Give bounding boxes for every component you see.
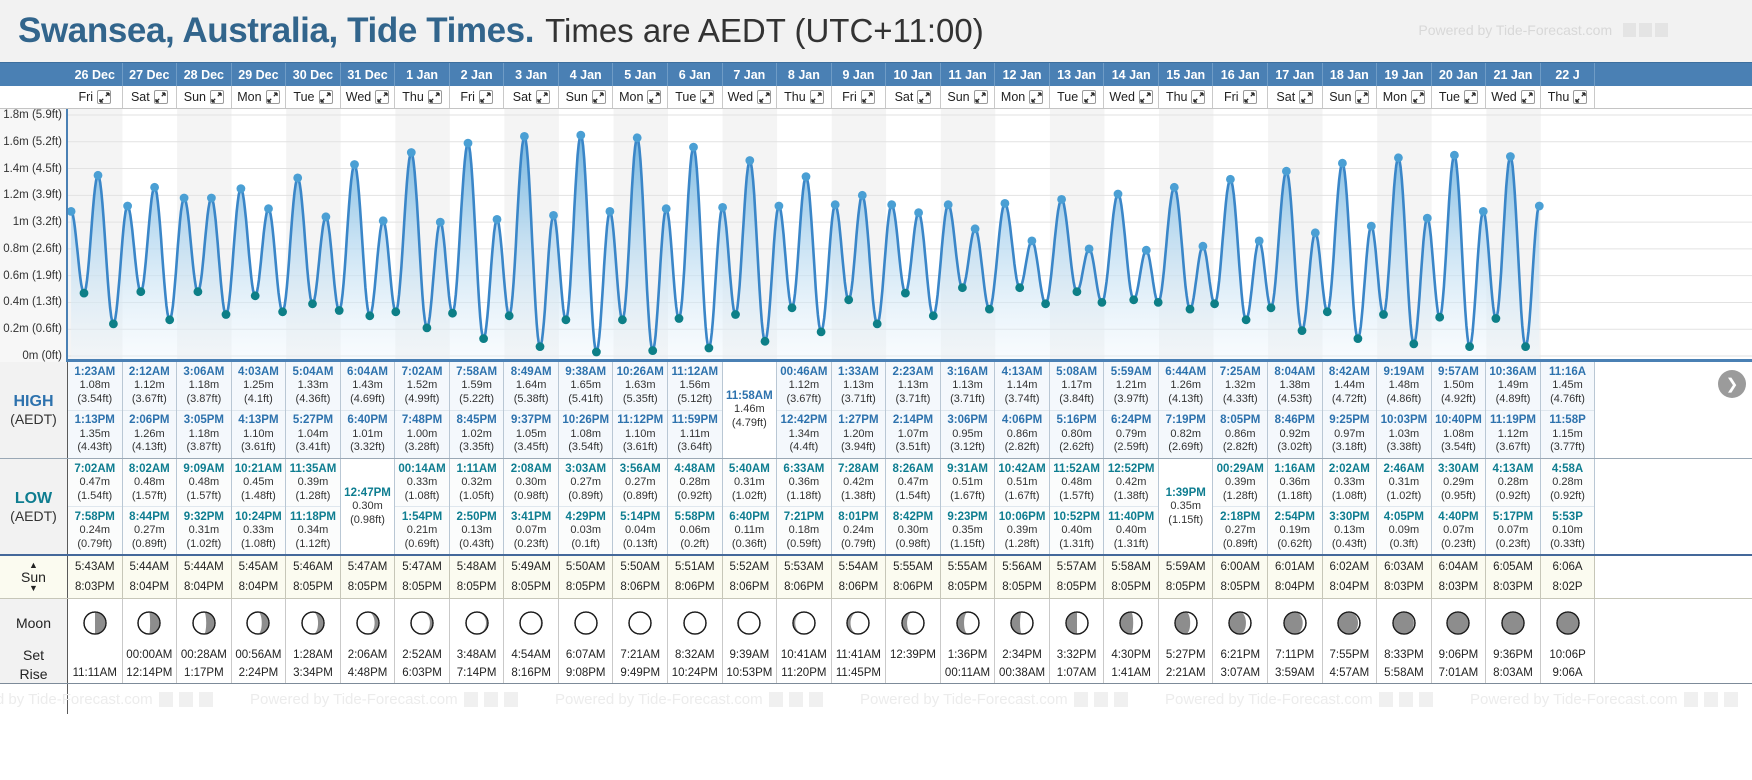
weekday-label: Mon	[1001, 90, 1025, 104]
moon-phase-cell	[1159, 599, 1214, 646]
high-tide-column: 2:12AM1.12m(3.67ft)2:06PM1.26m(4.13ft)	[123, 362, 178, 458]
tide-height-ft: (3.71ft)	[896, 393, 931, 407]
high-tide-marker	[576, 131, 585, 140]
low-tide-marker	[1186, 305, 1195, 314]
high-tide-cell: 7:25AM1.32m(4.33ft)	[1213, 362, 1267, 410]
tide-height-ft: (3.41ft)	[296, 441, 331, 455]
expand-icon[interactable]	[154, 90, 168, 104]
tide-time: 6:40PM	[729, 510, 769, 524]
tide-height-ft: (1.02ft)	[732, 490, 767, 504]
low-tide-cell: 3:30AM0.29m(0.95ft)	[1432, 459, 1486, 506]
tide-height-ft: (0.69ft)	[405, 538, 440, 552]
expand-icon[interactable]	[210, 90, 224, 104]
expand-icon[interactable]	[810, 90, 824, 104]
refresh-icon	[789, 692, 803, 707]
tide-time: 5:14PM	[620, 510, 660, 524]
moonrise-time: 7:14PM	[457, 665, 497, 682]
moon-phase-cell	[1432, 599, 1487, 646]
tide-height-ft: (1.31ft)	[1059, 538, 1094, 552]
low-tide-column: 3:30AM0.29m(0.95ft)4:40PM0.07m(0.23ft)	[1432, 459, 1487, 554]
y-axis-tick-label: 1.6m (5.2ft)	[3, 136, 62, 148]
sun-cell: 5:57AM8:05PM	[1050, 556, 1105, 598]
tide-height-ft: (1.05ft)	[459, 490, 494, 504]
high-tide-cell: 5:27PM1.04m(3.41ft)	[286, 410, 340, 459]
tide-height-m: 1.15m	[1552, 428, 1583, 442]
tide-height-ft: (0.23ft)	[1441, 538, 1476, 552]
moon-phase-cell	[1104, 599, 1159, 646]
tide-height-ft: (2.59ft)	[1114, 441, 1149, 455]
tide-height-ft: (0.36ft)	[732, 538, 767, 552]
tide-time: 4:13PM	[238, 413, 278, 427]
tide-time: 10:21AM	[235, 462, 282, 476]
tide-height-m: 0.07m	[1498, 524, 1529, 538]
wind-icon	[1379, 692, 1393, 707]
weekday-header-cell: Sun	[941, 86, 996, 108]
expand-icon[interactable]	[592, 90, 606, 104]
expand-icon[interactable]	[1191, 90, 1205, 104]
tide-time: 9:38AM	[565, 365, 606, 379]
moon-setrise-cell: 12:39PM	[886, 646, 941, 683]
tide-time: 5:04AM	[293, 365, 334, 379]
sun-row: ▲ Sun ▼ 5:43AM8:03PM5:44AM8:04PM5:44AM8:…	[0, 554, 1752, 598]
tide-time: 1:33AM	[838, 365, 879, 379]
expand-icon[interactable]	[266, 90, 280, 104]
high-tide-cell: 12:42PM1.34m(4.4ft)	[777, 410, 831, 459]
moonset-time: 8:32AM	[675, 647, 715, 664]
tide-height-ft: (0.89ft)	[1223, 538, 1258, 552]
low-tide-marker	[761, 337, 770, 346]
weekday-label: Wed	[728, 90, 753, 104]
expand-icon[interactable]	[1082, 90, 1096, 104]
low-tide-column: 6:33AM0.36m(1.18ft)7:21PM0.18m(0.59ft)	[777, 459, 832, 554]
high-tide-cell: 8:49AM1.64m(5.38ft)	[504, 362, 558, 410]
tide-height-ft: (1.54ft)	[77, 490, 112, 504]
expand-icon[interactable]	[1299, 90, 1313, 104]
sunrise-time: 6:03AM	[1384, 557, 1424, 577]
low-tide-marker	[505, 311, 514, 320]
weekday-header-cell: Tue	[286, 86, 341, 108]
expand-icon[interactable]	[428, 90, 442, 104]
sunrise-time: 5:48AM	[457, 557, 497, 577]
tide-height-ft: (5.22ft)	[459, 393, 494, 407]
expand-icon[interactable]	[917, 90, 931, 104]
weekday-header-cell: Mon	[1377, 86, 1432, 108]
low-tide-cell: 3:41PM0.07m(0.23ft)	[504, 506, 558, 554]
high-tide-column: 2:23AM1.13m(3.71ft)2:14PM1.07m(3.51ft)	[886, 362, 941, 458]
tide-height-ft: (1.02ft)	[1386, 490, 1421, 504]
tide-height-m: 0.27m	[625, 476, 656, 490]
low-tide-cell: 10:21AM0.45m(1.48ft)	[232, 459, 286, 506]
sun-cell: 6:05AM8:03PM	[1486, 556, 1541, 598]
sunset-time: 8:05PM	[457, 577, 497, 597]
tide-height-m: 0.29m	[1443, 476, 1474, 490]
high-tide-column: 8:04AM1.38m(4.53ft)8:46PM0.92m(3.02ft)	[1268, 362, 1323, 458]
moon-phase-icon	[682, 610, 708, 636]
moonset-time: 2:06AM	[348, 647, 388, 664]
moon-phase-icon	[1227, 610, 1253, 636]
sun-cell: 5:56AM8:05PM	[995, 556, 1050, 598]
moon-phase-icon	[791, 610, 817, 636]
expand-icon[interactable]	[861, 90, 875, 104]
expand-icon[interactable]	[1139, 90, 1153, 104]
sunset-time: 8:05PM	[948, 577, 988, 597]
scroll-right-icon[interactable]: ❯	[1718, 370, 1746, 398]
high-tide-marker	[150, 183, 159, 192]
expand-icon[interactable]	[700, 90, 714, 104]
tide-time: 1:27PM	[838, 413, 878, 427]
low-tide-cell: 1:16AM0.36m(1.18ft)	[1268, 459, 1322, 506]
tide-height-m: 0.06m	[680, 524, 711, 538]
chart-y-axis: 1.8m (5.9ft)1.6m (5.2ft)1.4m (4.5ft)1.2m…	[0, 109, 68, 362]
tide-height-m: 0.82m	[1170, 428, 1201, 442]
tide-height-ft: (0.1ft)	[571, 538, 600, 552]
refresh-icon	[1639, 23, 1652, 37]
expand-icon[interactable]	[1521, 90, 1535, 104]
date-header-cell: 19 Jan	[1377, 63, 1432, 86]
high-tide-cell: 9:19AM1.48m(4.86ft)	[1377, 362, 1431, 410]
moonset-time: 7:55PM	[1330, 647, 1370, 664]
tide-time: 6:04AM	[347, 365, 388, 379]
sunset-time: 8:05PM	[511, 577, 551, 597]
y-axis-tick-label: 1m (3.2ft)	[13, 216, 62, 228]
expand-icon[interactable]	[1355, 90, 1369, 104]
date-header-cell: 2 Jan	[450, 63, 505, 86]
low-tide-marker	[1323, 307, 1332, 316]
high-tide-cell: 7:58AM1.59m(5.22ft)	[450, 362, 504, 410]
tide-height-m: 0.51m	[1007, 476, 1038, 490]
tide-height-m: 0.39m	[298, 476, 329, 490]
expand-icon[interactable]	[647, 90, 661, 104]
low-tide-column: 3:03AM0.27m(0.89ft)4:29PM0.03m(0.1ft)	[559, 459, 614, 554]
low-tide-marker	[222, 310, 231, 319]
tide-height-m: 0.04m	[625, 524, 656, 538]
high-tide-column: 10:26AM1.63m(5.35ft)11:12PM1.10m(3.61ft)	[613, 362, 668, 458]
tide-height-m: 1.10m	[625, 428, 656, 442]
moon-setrise-cell: 8:32AM10:24PM	[668, 646, 723, 683]
high-tide-column: 11:16A1.45m(4.76ft)11:58P1.15m(3.77ft)	[1541, 362, 1596, 458]
expand-icon[interactable]	[319, 90, 333, 104]
sunset-time: 8:02P	[1553, 577, 1583, 597]
tide-height-ft: (1.54ft)	[896, 490, 931, 504]
tide-height-ft: (0.89ft)	[568, 490, 603, 504]
low-tide-marker	[562, 315, 571, 324]
tide-time: 8:49AM	[511, 365, 552, 379]
tide-height-m: 1.38m	[1280, 379, 1311, 393]
high-tide-cell: 4:13PM1.10m(3.61ft)	[232, 410, 286, 459]
tide-height-m: 1.18m	[189, 379, 220, 393]
high-tide-marker	[94, 171, 103, 180]
moon-set-label: Set	[23, 646, 44, 665]
high-tide-label-text: HIGH	[14, 392, 54, 411]
tide-height-m: 1.12m	[134, 379, 165, 393]
sunrise-time: 6:02AM	[1330, 557, 1370, 577]
moonset-time	[93, 647, 96, 664]
tide-time: 8:02AM	[129, 462, 170, 476]
high-tide-marker	[1001, 199, 1010, 208]
low-tide-marker	[1492, 314, 1501, 323]
date-header-cell: 28 Dec	[177, 63, 232, 86]
tide-time: 12:52PM	[1108, 462, 1155, 476]
moon-phase-cell	[504, 599, 559, 646]
moon-phase-icon	[518, 610, 544, 636]
low-tide-column: 8:26AM0.47m(1.54ft)8:42PM0.30m(0.98ft)	[886, 459, 941, 554]
sunset-time: 8:06PM	[730, 577, 770, 597]
moonset-time: 4:30PM	[1111, 647, 1151, 664]
low-tide-marker	[448, 309, 457, 318]
date-header-cell: 1 Jan	[395, 63, 450, 86]
moonset-time: 1:28AM	[293, 647, 333, 664]
tide-height-ft: (1.28ft)	[296, 490, 331, 504]
sunset-time: 8:05PM	[293, 577, 333, 597]
date-header-cell: 16 Jan	[1213, 63, 1268, 86]
sunrise-time: 5:54AM	[839, 557, 879, 577]
tide-chart: 1.8m (5.9ft)1.6m (5.2ft)1.4m (4.5ft)1.2m…	[0, 109, 1752, 362]
tide-height-m: 0.07m	[516, 524, 547, 538]
sunrise-time: 5:47AM	[402, 557, 442, 577]
tide-height-m: 1.12m	[1498, 428, 1529, 442]
tide-height-m: 0.47m	[79, 476, 110, 490]
date-header-cell: 7 Jan	[723, 63, 778, 86]
tide-height-ft: (2.82ft)	[1223, 441, 1258, 455]
low-tide-cell: 6:40PM0.11m(0.36ft)	[723, 506, 777, 554]
sunset-time: 8:05PM	[1057, 577, 1097, 597]
tide-time: 2:02AM	[1329, 462, 1370, 476]
tide-time: 8:42AM	[1329, 365, 1370, 379]
low-tide-marker	[1041, 299, 1050, 308]
low-tide-marker	[1098, 298, 1107, 307]
tide-height-m: 0.18m	[789, 524, 820, 538]
weekday-label: Sat	[513, 90, 532, 104]
expand-icon[interactable]	[375, 90, 389, 104]
tide-height-ft: (0.98ft)	[350, 514, 385, 528]
sun-cell: 5:44AM8:04PM	[177, 556, 232, 598]
weekday-header-cell: Mon	[613, 86, 668, 108]
low-tide-marker	[844, 295, 853, 304]
sunrise-time: 6:05AM	[1493, 557, 1533, 577]
expand-icon[interactable]	[974, 90, 988, 104]
low-tide-column: 11:35AM0.39m(1.28ft)11:18PM0.34m(1.12ft)	[286, 459, 341, 554]
tide-time: 9:23PM	[947, 510, 987, 524]
low-tide-marker	[592, 348, 601, 357]
footer-watermark-text: Powered by Tide-Forecast.com	[0, 691, 153, 708]
expand-icon[interactable]	[1243, 90, 1257, 104]
tide-height-m: 0.24m	[843, 524, 874, 538]
moonrise-time: 1:17PM	[184, 665, 224, 682]
low-tide-cell: 5:14PM0.04m(0.13ft)	[613, 506, 667, 554]
moonrise-time: 00:11AM	[945, 665, 990, 682]
expand-icon[interactable]	[1411, 90, 1425, 104]
y-axis-tick-label: 0.4m (1.3ft)	[3, 296, 62, 308]
tide-time: 6:44AM	[1165, 365, 1206, 379]
expand-icon[interactable]	[536, 90, 550, 104]
low-tide-row: LOW (AEDT) 7:02AM0.47m(1.54ft)7:58PM0.24…	[0, 458, 1752, 554]
tide-height-ft: (3.87ft)	[186, 441, 221, 455]
high-tide-marker	[436, 218, 445, 227]
weekday-header-row: FriSatSunMonTueWedThuFriSatSunMonTueWedT…	[0, 86, 1752, 109]
sun-label-text: Sun	[21, 570, 46, 584]
sun-cell: 6:06A8:02P	[1541, 556, 1596, 598]
date-header-cell: 15 Jan	[1159, 63, 1214, 86]
low-tide-marker	[365, 311, 374, 320]
tide-height-m: 0.86m	[1007, 428, 1038, 442]
tide-height-m: 1.00m	[407, 428, 438, 442]
moon-setrise-cell: 7:55PM4:57AM	[1323, 646, 1378, 683]
wave-icon	[199, 692, 213, 707]
low-tide-cell: 6:33AM0.36m(1.18ft)	[777, 459, 831, 506]
tide-time: 11:59PM	[672, 413, 718, 427]
tide-time: 7:48PM	[402, 413, 442, 427]
moon-phase-icon	[1336, 610, 1362, 636]
moon-setrise-cell: 2:52AM6:03PM	[395, 646, 450, 683]
sunset-time: 8:04PM	[184, 577, 224, 597]
expand-icon[interactable]	[1029, 90, 1043, 104]
moon-setrise-row: Set Rise 11:11AM00:00AM12:14PM00:28AM1:1…	[0, 646, 1752, 684]
low-tide-marker	[1242, 315, 1251, 324]
tide-height-ft: (3.74ft)	[1005, 393, 1040, 407]
sunset-time: 8:05PM	[566, 577, 606, 597]
moon-phase-icon	[1391, 610, 1417, 636]
high-tide-marker	[1142, 246, 1151, 255]
tide-height-ft: (1.38ft)	[841, 490, 876, 504]
moon-setrise-cell: 1:36PM00:11AM	[941, 646, 996, 683]
low-tide-marker	[1435, 313, 1444, 322]
low-tide-marker	[817, 328, 826, 337]
high-tide-marker	[887, 200, 896, 209]
sunrise-time: 5:51AM	[675, 557, 715, 577]
tide-time: 4:40PM	[1438, 510, 1478, 524]
high-tide-cell: 00:46AM1.12m(3.67ft)	[777, 362, 831, 410]
tide-height-m: 0.48m	[189, 476, 220, 490]
moonset-time: 9:06PM	[1439, 647, 1479, 664]
weekday-header-cell: Mon	[232, 86, 287, 108]
tide-height-m: 0.48m	[134, 476, 165, 490]
date-header-cell: 5 Jan	[613, 63, 668, 86]
tide-time: 7:02AM	[74, 462, 115, 476]
moon-label-text: Moon	[16, 615, 51, 631]
low-tide-marker	[648, 346, 657, 355]
high-tide-marker	[745, 156, 754, 165]
tide-time: 7:25AM	[1220, 365, 1261, 379]
tide-height-m: 1.26m	[134, 428, 165, 442]
high-tide-cell: 11:16A1.45m(4.76ft)	[1541, 362, 1595, 410]
date-header-row: 26 Dec27 Dec28 Dec29 Dec30 Dec31 Dec1 Ja…	[0, 62, 1752, 86]
arrow-down-icon: ▼	[29, 584, 38, 593]
expand-icon[interactable]	[97, 90, 111, 104]
weekday-header-spacer	[0, 86, 68, 108]
weekday-header-cell: Fri	[68, 86, 123, 108]
tide-height-ft: (4.43ft)	[77, 441, 112, 455]
sun-cell: 5:47AM8:05PM	[395, 556, 450, 598]
weekday-header-cell: Sat	[1268, 86, 1323, 108]
weekday-header-cell: Fri	[1213, 86, 1268, 108]
moon-setrise-cell: 2:06AM4:48PM	[341, 646, 396, 683]
date-header-cell: 13 Jan	[1050, 63, 1105, 86]
moonset-time: 8:33PM	[1384, 647, 1424, 664]
low-tide-cell: 8:01PM0.24m(0.79ft)	[832, 506, 886, 554]
low-tide-cell: 7:21PM0.18m(0.59ft)	[777, 506, 831, 554]
high-tide-marker	[1114, 190, 1123, 199]
tide-time: 3:56AM	[620, 462, 661, 476]
high-tide-cell: 3:05PM1.18m(3.87ft)	[177, 410, 231, 459]
expand-icon[interactable]	[757, 90, 771, 104]
tide-height-ft: (3.38ft)	[1386, 441, 1421, 455]
tide-height-ft: (0.23ft)	[1496, 538, 1531, 552]
weekday-label: Sun	[947, 90, 969, 104]
low-tide-cell: 00:29AM0.39m(1.28ft)	[1213, 459, 1267, 506]
tide-height-ft: (0.43ft)	[1332, 538, 1367, 552]
footer-watermark-text: Powered by Tide-Forecast.com	[1165, 691, 1373, 708]
low-tide-cell: 1:54PM0.21m(0.69ft)	[395, 506, 449, 554]
weekday-header-cell: Thu	[1159, 86, 1214, 108]
tide-time: 7:28AM	[838, 462, 879, 476]
tide-time: 11:12PM	[617, 413, 663, 427]
tide-time: 10:52PM	[1053, 510, 1100, 524]
low-tide-marker	[536, 342, 545, 351]
high-tide-marker	[1506, 152, 1515, 161]
tide-time: 9:57AM	[1438, 365, 1479, 379]
tide-height-ft: (0.98ft)	[514, 490, 549, 504]
expand-icon[interactable]	[479, 90, 493, 104]
low-tide-cell: 3:56AM0.27m(0.89ft)	[613, 459, 667, 506]
tide-time: 8:45PM	[456, 413, 496, 427]
low-tide-cell: 00:14AM0.33m(1.08ft)	[395, 459, 449, 506]
low-tide-cell: 4:58A0.28m(0.92ft)	[1541, 459, 1595, 506]
tide-height-ft: (3.54ft)	[77, 393, 112, 407]
tide-time: 6:24PM	[1111, 413, 1151, 427]
tide-height-ft: (4.53ft)	[1277, 393, 1312, 407]
moon-phase-icon	[409, 610, 435, 636]
high-tide-cell: 3:06AM1.18m(3.87ft)	[177, 362, 231, 410]
tide-height-ft: (3.54ft)	[568, 441, 603, 455]
expand-icon[interactable]	[1573, 90, 1587, 104]
low-tide-marker	[788, 303, 797, 312]
weekday-header-cell: Thu	[777, 86, 832, 108]
tide-time: 11:58AM	[726, 389, 773, 403]
expand-icon[interactable]	[1464, 90, 1478, 104]
low-tide-cell: 5:17PM0.07m(0.23ft)	[1486, 506, 1540, 554]
sunrise-time: 5:43AM	[75, 557, 115, 577]
high-tide-cell: 7:48PM1.00m(3.28ft)	[395, 410, 449, 459]
sun-cell: 5:55AM8:06PM	[886, 556, 941, 598]
tide-time: 1:16AM	[1274, 462, 1315, 476]
low-tide-marker	[1154, 298, 1163, 307]
high-tide-cell: 5:04AM1.33m(4.36ft)	[286, 362, 340, 410]
tide-height-m: 1.34m	[789, 428, 820, 442]
moon-setrise-cell: 10:41AM11:20PM	[777, 646, 832, 683]
high-tide-marker	[350, 160, 359, 169]
moon-phase-cell	[232, 599, 287, 646]
low-tide-marker	[1354, 334, 1363, 343]
tide-height-ft: (0.92ft)	[1550, 490, 1585, 504]
moonset-time: 7:21AM	[620, 647, 660, 664]
high-tide-cell: 7:19PM0.82m(2.69ft)	[1159, 410, 1213, 459]
high-tide-cell: 6:40PM1.01m(3.32ft)	[341, 410, 395, 459]
tide-height-m: 1.52m	[407, 379, 438, 393]
moon-phase-cell	[1050, 599, 1105, 646]
low-tide-marker	[1073, 287, 1082, 296]
moon-rise-label: Rise	[19, 665, 47, 684]
low-tide-column: 7:28AM0.42m(1.38ft)8:01PM0.24m(0.79ft)	[832, 459, 887, 554]
moonset-time: 1:36PM	[948, 647, 988, 664]
low-tide-cell: 5:40AM0.31m(1.02ft)	[723, 459, 777, 506]
high-tide-timezone: (AEDT)	[10, 411, 57, 428]
tide-height-m: 1.49m	[1498, 379, 1529, 393]
high-tide-cell: 11:12PM1.10m(3.61ft)	[613, 410, 667, 459]
moon-phase-cell	[395, 599, 450, 646]
tide-time: 1:11AM	[456, 462, 496, 476]
weekday-header-cell: Wed	[341, 86, 396, 108]
sunrise-time: 5:49AM	[511, 557, 551, 577]
